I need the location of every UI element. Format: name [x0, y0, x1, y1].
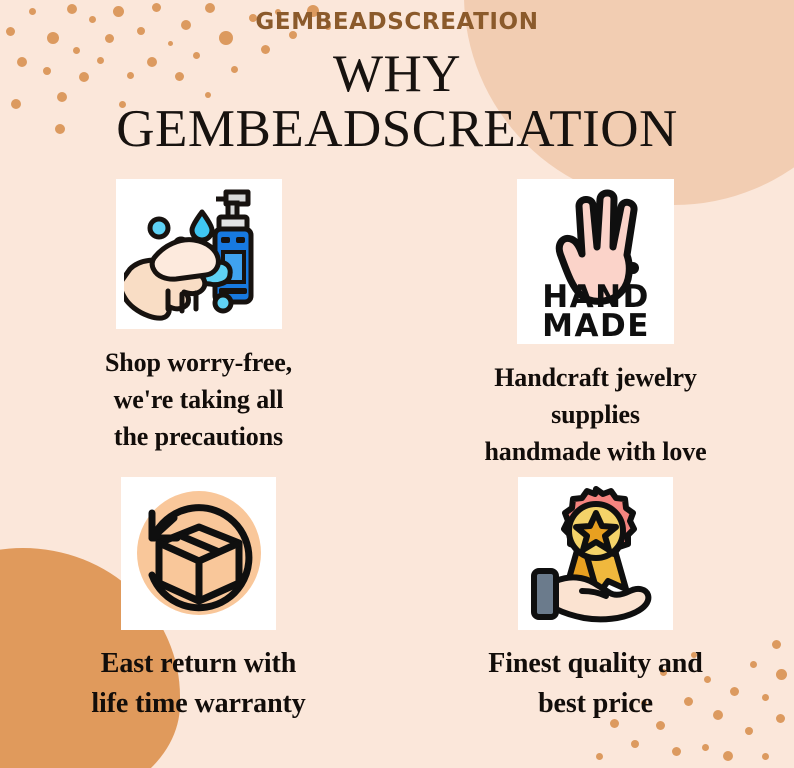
caption-line: best price [488, 684, 702, 724]
feature-caption-hygiene: Shop worry-free, we're taking all the pr… [105, 345, 292, 456]
caption-line: handmade with love [484, 434, 706, 471]
features-grid: Shop worry-free, we're taking all the pr… [0, 179, 794, 723]
caption-line: Shop worry-free, [105, 345, 292, 382]
page-title-line-1: WHY [0, 47, 794, 102]
package-return-arrow-icon [121, 477, 276, 630]
brand-name: GEMBEADSCREATION [0, 0, 794, 35]
hand-washing-sanitizer-icon [116, 179, 282, 329]
feature-item-returns: East return with life time warranty [0, 477, 397, 724]
page-title-line-2: GEMBEADSCREATION [0, 102, 794, 157]
caption-line: Finest quality and [488, 644, 702, 684]
caption-line: we're taking all [105, 382, 292, 419]
caption-line: supplies [484, 397, 706, 434]
caption-line: Handcraft jewelry [484, 360, 706, 397]
feature-caption-returns: East return with life time warranty [91, 644, 305, 724]
caption-line: the precautions [105, 419, 292, 456]
page-title: WHY GEMBEADSCREATION [0, 47, 794, 157]
hand-made-text-line2: MADE [542, 308, 650, 338]
feature-caption-handmade: Handcraft jewelry supplies handmade with… [484, 360, 706, 471]
feature-caption-quality: Finest quality and best price [488, 644, 702, 724]
caption-line: life time warranty [91, 684, 305, 724]
feature-item-hygiene: Shop worry-free, we're taking all the pr… [0, 179, 397, 471]
poster-canvas: GEMBEADSCREATION WHY GEMBEADSCREATION [0, 0, 794, 768]
feature-item-handmade: HAND MADE Handcraft jewelry supplies han… [397, 179, 794, 471]
caption-line: East return with [91, 644, 305, 684]
hand-made-stamp-icon: HAND MADE [517, 179, 674, 344]
feature-item-quality: Finest quality and best price [397, 477, 794, 724]
hand-holding-award-icon [518, 477, 673, 630]
